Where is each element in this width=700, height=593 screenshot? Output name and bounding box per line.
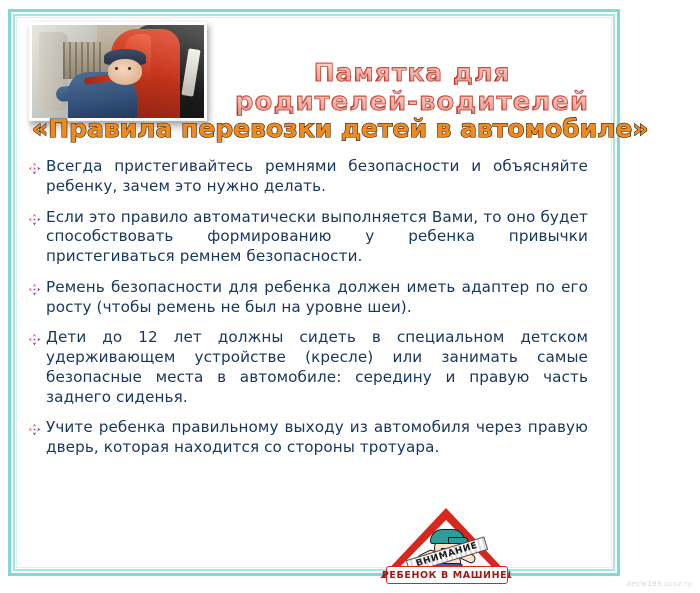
title-line-2: родителей-водителей: [212, 89, 612, 115]
photo-gloss-overlay: [32, 25, 204, 118]
rule-text: Всегда пристегивайтесь ремнями безопасно…: [46, 157, 588, 197]
poster-subtitle: «Правила перевозки детей в автомобиле»: [32, 116, 612, 142]
child-in-car-sticker: ВНИМАНИЕ РЕБЕНОК В МАШИНЕ!: [380, 508, 512, 586]
arrow-bullet-icon: [28, 423, 41, 436]
rule-text: Дети до 12 лет должны сидеть в специальн…: [46, 328, 588, 407]
poster-title: Памятка для родителей-водителей: [212, 60, 612, 115]
sticker-banner-text: РЕБЕНОК В МАШИНЕ!: [382, 570, 512, 581]
source-watermark: detiw199.ucoz.ru: [627, 580, 692, 588]
arrow-bullet-icon: [28, 162, 41, 175]
rule-text: Если это правило автоматически выполняет…: [46, 208, 588, 267]
arrow-bullet-icon: [28, 333, 41, 346]
safety-poster: Памятка для родителей-водителей «Правила…: [0, 0, 700, 593]
child-carseat-photo: [29, 22, 207, 121]
list-item: Если это правило автоматически выполняет…: [28, 208, 588, 267]
list-item: Учите ребенка правильному выходу из авто…: [28, 418, 588, 458]
rule-text: Учите ребенка правильному выходу из авто…: [46, 418, 588, 458]
list-item: Ремень безопасности для ребенка должен и…: [28, 278, 588, 318]
list-item: Всегда пристегивайтесь ремнями безопасно…: [28, 157, 588, 197]
photo-canvas: [32, 25, 204, 118]
arrow-bullet-icon: [28, 213, 41, 226]
rules-list: Всегда пристегивайтесь ремнями безопасно…: [28, 157, 588, 469]
arrow-bullet-icon: [28, 283, 41, 296]
rule-text: Ремень безопасности для ребенка должен и…: [46, 278, 588, 318]
title-line-1: Памятка для: [212, 60, 612, 85]
sticker-banner: РЕБЕНОК В МАШИНЕ!: [386, 566, 508, 584]
list-item: Дети до 12 лет должны сидеть в специальн…: [28, 328, 588, 407]
